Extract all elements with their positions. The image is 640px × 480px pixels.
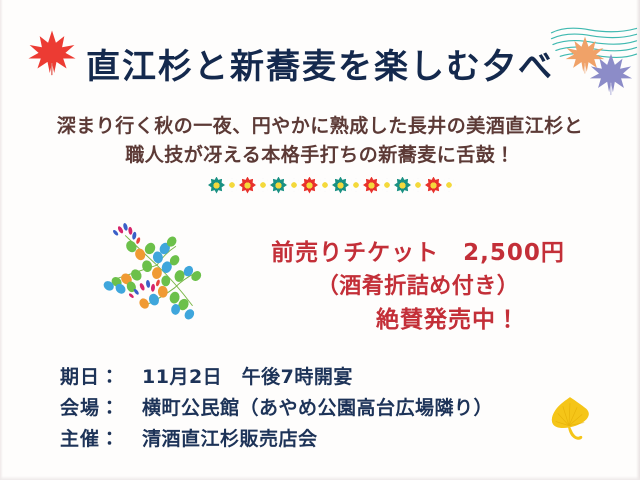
flower-white-icon	[349, 178, 363, 192]
flower-red-icon	[363, 177, 380, 194]
flower-white-icon	[318, 178, 332, 192]
ticket-onsale-line: 絶賛発売中！	[218, 303, 618, 337]
ticket-includes-line: （酒肴折詰め付き）	[218, 270, 618, 303]
detail-row-venue: 会場： 横町公民館（あやめ公園高台広場隣り）	[60, 393, 493, 424]
subtitle-line-1: 深まり行く秋の一夜、円やかに熟成した長井の美酒直江杉と	[0, 112, 640, 141]
flower-red-icon	[239, 177, 256, 194]
detail-value-organizer: 清酒直江杉販売店会	[142, 424, 318, 455]
yellow-ginkgo-leaf-icon	[545, 392, 597, 448]
event-details-block: 期日： 11月2日 午後7時開宴 会場： 横町公民館（あやめ公園高台広場隣り） …	[60, 362, 493, 455]
page-title: 直江杉と新蕎麦を楽しむ夕べ	[0, 44, 640, 90]
flower-white-icon	[442, 178, 456, 192]
flower-divider	[208, 175, 440, 195]
hagi-branch-icon	[78, 218, 226, 336]
flower-red-icon	[425, 177, 442, 194]
event-poster: 直江杉と新蕎麦を楽しむ夕べ 深まり行く秋の一夜、円やかに熟成した長井の美酒直江杉…	[0, 0, 640, 480]
flower-white-icon	[256, 178, 270, 192]
flower-teal-icon	[332, 177, 349, 194]
detail-label-organizer: 主催：	[60, 424, 142, 455]
detail-value-venue: 横町公民館（あやめ公園高台広場隣り）	[142, 393, 493, 424]
detail-label-date: 期日：	[60, 362, 142, 393]
flower-teal-icon	[394, 177, 411, 194]
detail-row-date: 期日： 11月2日 午後7時開宴	[60, 362, 493, 393]
flower-white-icon	[287, 178, 301, 192]
ticket-price-line: 前売りチケット 2,500円	[218, 236, 618, 270]
flower-teal-icon	[208, 177, 225, 194]
flower-red-icon	[301, 177, 318, 194]
subtitle-block: 深まり行く秋の一夜、円やかに熟成した長井の美酒直江杉と 職人技が冴える本格手打ち…	[0, 112, 640, 170]
flower-white-icon	[380, 178, 394, 192]
flower-white-icon	[225, 178, 239, 192]
ticket-info-block: 前売りチケット 2,500円 （酒肴折詰め付き） 絶賛発売中！	[218, 236, 618, 337]
detail-label-venue: 会場：	[60, 393, 142, 424]
flower-teal-icon	[270, 177, 287, 194]
detail-value-date: 11月2日 午後7時開宴	[142, 362, 353, 393]
page-edge-bottom	[0, 476, 640, 480]
detail-row-organizer: 主催： 清酒直江杉販売店会	[60, 424, 493, 455]
subtitle-line-2: 職人技が冴える本格手打ちの新蕎麦に舌鼓！	[0, 141, 640, 170]
flower-white-icon	[411, 178, 425, 192]
